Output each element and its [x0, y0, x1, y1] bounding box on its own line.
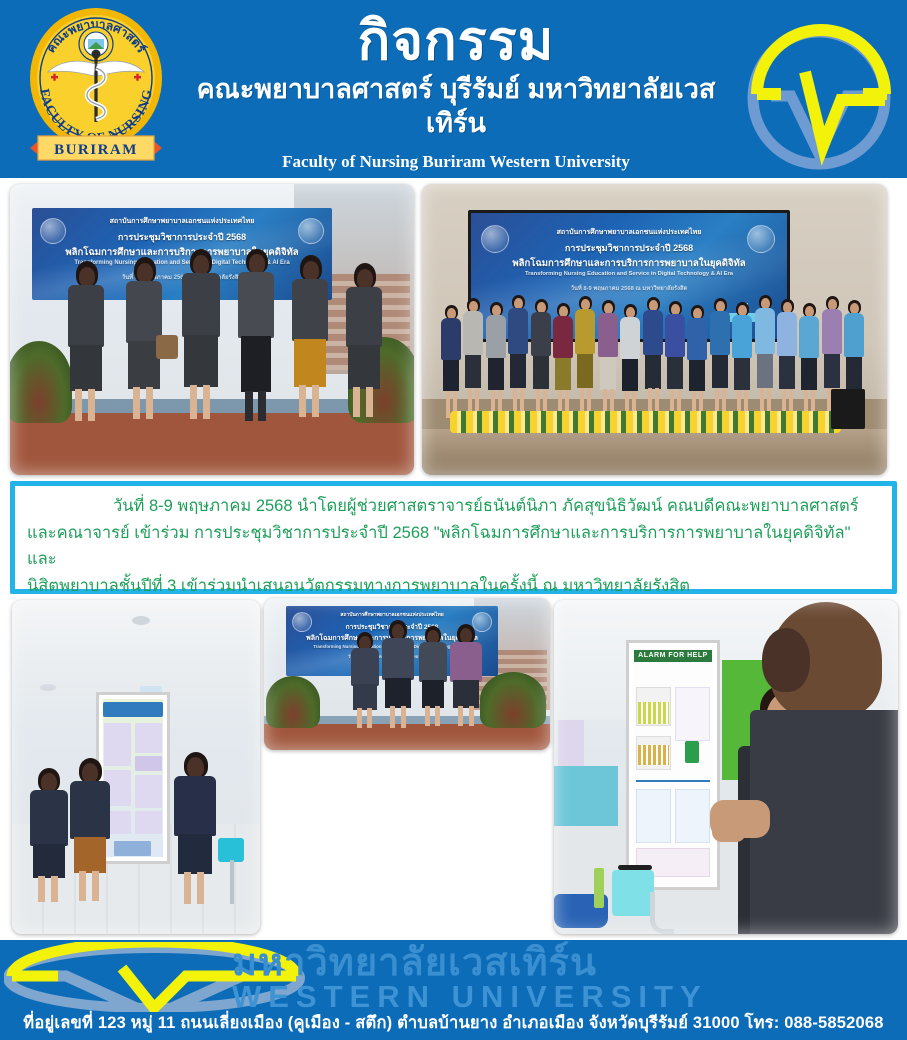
stage-banner-line-5: วันที่ 8-9 พฤษภาคม 2568 ณ มหาวิทยาลัยรัง… [471, 283, 787, 293]
stage-person [642, 297, 664, 409]
stage-person [462, 298, 484, 409]
stage-person [574, 296, 596, 409]
photo-band-bottom: สถาบันการศึกษาพยาบาลเอกชนแห่งประเทศไทย ก… [0, 596, 907, 940]
photo-band-top: สถาบันการศึกษาพยาบาลเอกชนแห่งประเทศไทย ก… [0, 178, 907, 481]
footer-brand-thai: มหาวิทยาลัยเวสเทิร์น [232, 944, 904, 983]
caption-line-1: วันที่ 8-9 พฤษภาคม 2568 นำโดยผู้ช่วยศาสต… [27, 493, 880, 520]
photo-poster-presentation [12, 600, 260, 934]
stage-person [507, 295, 529, 409]
stage-person [664, 301, 686, 409]
caption-line-2: และคณาจารย์ เข้าร่วม การประชุมวิชาการประ… [27, 520, 880, 573]
stage-person [485, 302, 507, 409]
stage-person [440, 305, 462, 409]
header-banner: คณะพยาบาลศาสตร์ [0, 0, 907, 178]
alarm-for-help-poster-title: ALARM FOR HELP [634, 650, 711, 662]
stage-person [597, 300, 619, 409]
footer-brand-english: WESTERN UNIVERSITY [232, 981, 904, 1012]
footer-brand-block: มหาวิทยาลัยเวสเทิร์น WESTERN UNIVERSITY [232, 944, 904, 1012]
stage-person [686, 305, 708, 409]
page-title: กิจกรรม [176, 14, 736, 69]
stage-banner-line-1: สถาบันการศึกษาพยาบาลเอกชนแห่งประเทศไทย [471, 227, 787, 238]
stage-person [731, 302, 753, 409]
page-subtitle: คณะพยาบาลศาสตร์ บุรีรัมย์ มหาวิทยาลัยเวส… [176, 73, 736, 141]
faculty-of-nursing-seal-icon: คณะพยาบาลศาสตร์ [16, 6, 176, 174]
western-university-logo-icon [745, 12, 901, 172]
stage-person [619, 304, 641, 409]
svg-text:BURIRAM: BURIRAM [54, 142, 138, 158]
stage-banner-line-4: Transforming Nursing Education and Servi… [471, 271, 787, 277]
footer-address: ที่อยู่เลขที่ 123 หมู่ 11 ถนนเลี่ยงเมือง… [0, 1010, 907, 1036]
stage-person [709, 298, 731, 409]
stage-banner-line-3: พลิกโฉมการศึกษาและการบริการการพยาบาลในยุ… [471, 256, 787, 271]
mid-backdrop-line-1: สถาบันการศึกษาพยาบาลเอกชนแห่งประเทศไทย [286, 611, 498, 619]
photo-student-presenting: ALARM FOR HELP [554, 600, 898, 934]
stage-person [552, 303, 574, 409]
stage-banner-line-2: การประชุมวิชาการประจำปี 2568 [471, 241, 787, 255]
stage-person [776, 299, 798, 409]
header-title-block: กิจกรรม คณะพยาบาลศาสตร์ บุรีรัมย์ มหาวิท… [176, 14, 736, 173]
backdrop-line-1: สถาบันการศึกษาพยาบาลเอกชนแห่งประเทศไทย [32, 216, 332, 227]
photo-stage-group: สถาบันการศึกษาพยาบาลเอกชนแห่งประเทศไทย ก… [422, 184, 887, 475]
poster-root: คณะพยาบาลศาสตร์ [0, 0, 907, 1040]
photo-four-at-backdrop: สถาบันการศึกษาพยาบาลเอกชนแห่งประเทศไทย ก… [264, 598, 550, 750]
stage-person [530, 299, 552, 409]
stage-person [798, 303, 820, 409]
stage-person [754, 295, 776, 409]
backdrop-line-2: การประชุมวิชาการประจำปี 2568 [32, 230, 332, 244]
caption-box: วันที่ 8-9 พฤษภาคม 2568 นำโดยผู้ช่วยศาสต… [10, 481, 897, 594]
photo-group-at-backdrop: สถาบันการศึกษาพยาบาลเอกชนแห่งประเทศไทย ก… [10, 184, 414, 475]
page-subtitle-english: Faculty of Nursing Buriram Western Unive… [176, 151, 736, 173]
